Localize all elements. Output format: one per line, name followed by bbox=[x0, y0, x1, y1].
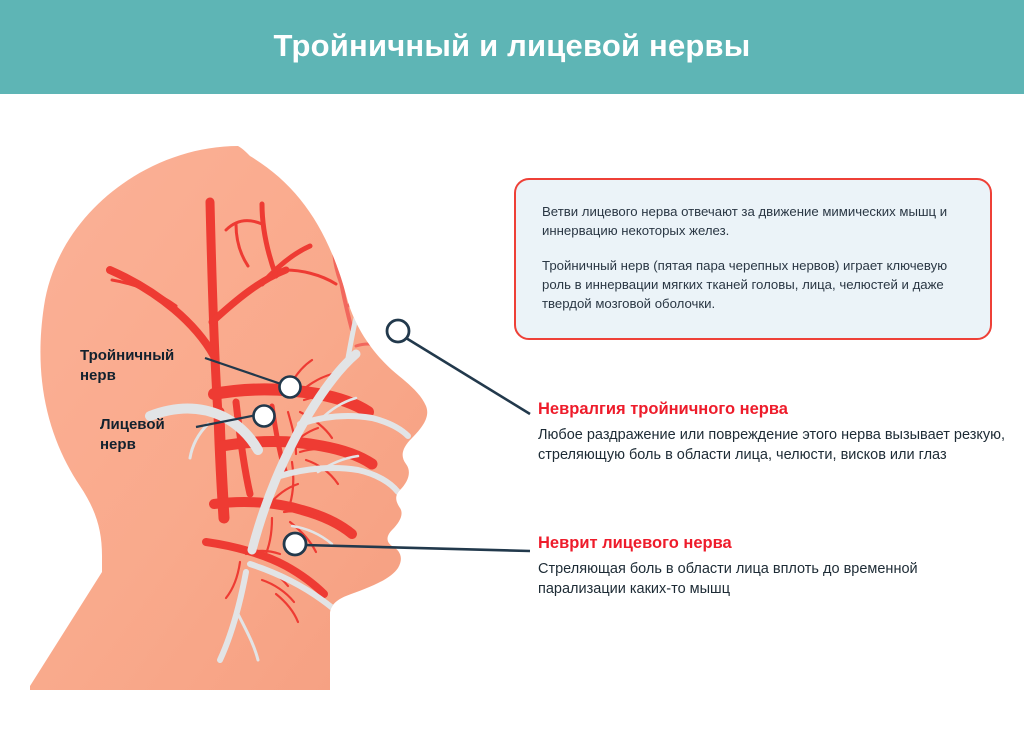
page-title: Тройничный и лицевой нервы bbox=[274, 30, 751, 65]
info-box: Ветви лицевого нерва отвечают за движени… bbox=[514, 178, 992, 340]
info-box-paragraph-1: Ветви лицевого нерва отвечают за движени… bbox=[542, 202, 964, 240]
label-trigeminal-nerve: Тройничный нерв bbox=[80, 346, 174, 386]
callout-facial-neuritis-body: Стреляющая боль в области лица вплоть до… bbox=[538, 559, 1008, 600]
info-box-paragraph-2: Тройничный нерв (пятая пара черепных нер… bbox=[542, 256, 964, 313]
callout-facial-neuritis: Неврит лицевого нерва Стреляющая боль в … bbox=[538, 534, 1008, 600]
callout-trigeminal-neuralgia-title: Невралгия тройничного нерва bbox=[538, 400, 1008, 419]
callout-trigeminal-neuralgia-body: Любое раздражение или повреждение этого … bbox=[538, 425, 1008, 466]
infographic-page: Тройничный и лицевой нервы bbox=[0, 0, 1024, 734]
header-banner: Тройничный и лицевой нервы bbox=[0, 0, 1024, 94]
label-facial-nerve: Лицевой нерв bbox=[100, 415, 165, 455]
callout-trigeminal-neuralgia: Невралгия тройничного нерва Любое раздра… bbox=[538, 400, 1008, 466]
callout-facial-neuritis-title: Неврит лицевого нерва bbox=[538, 534, 1008, 553]
head-illustration bbox=[0, 94, 540, 714]
